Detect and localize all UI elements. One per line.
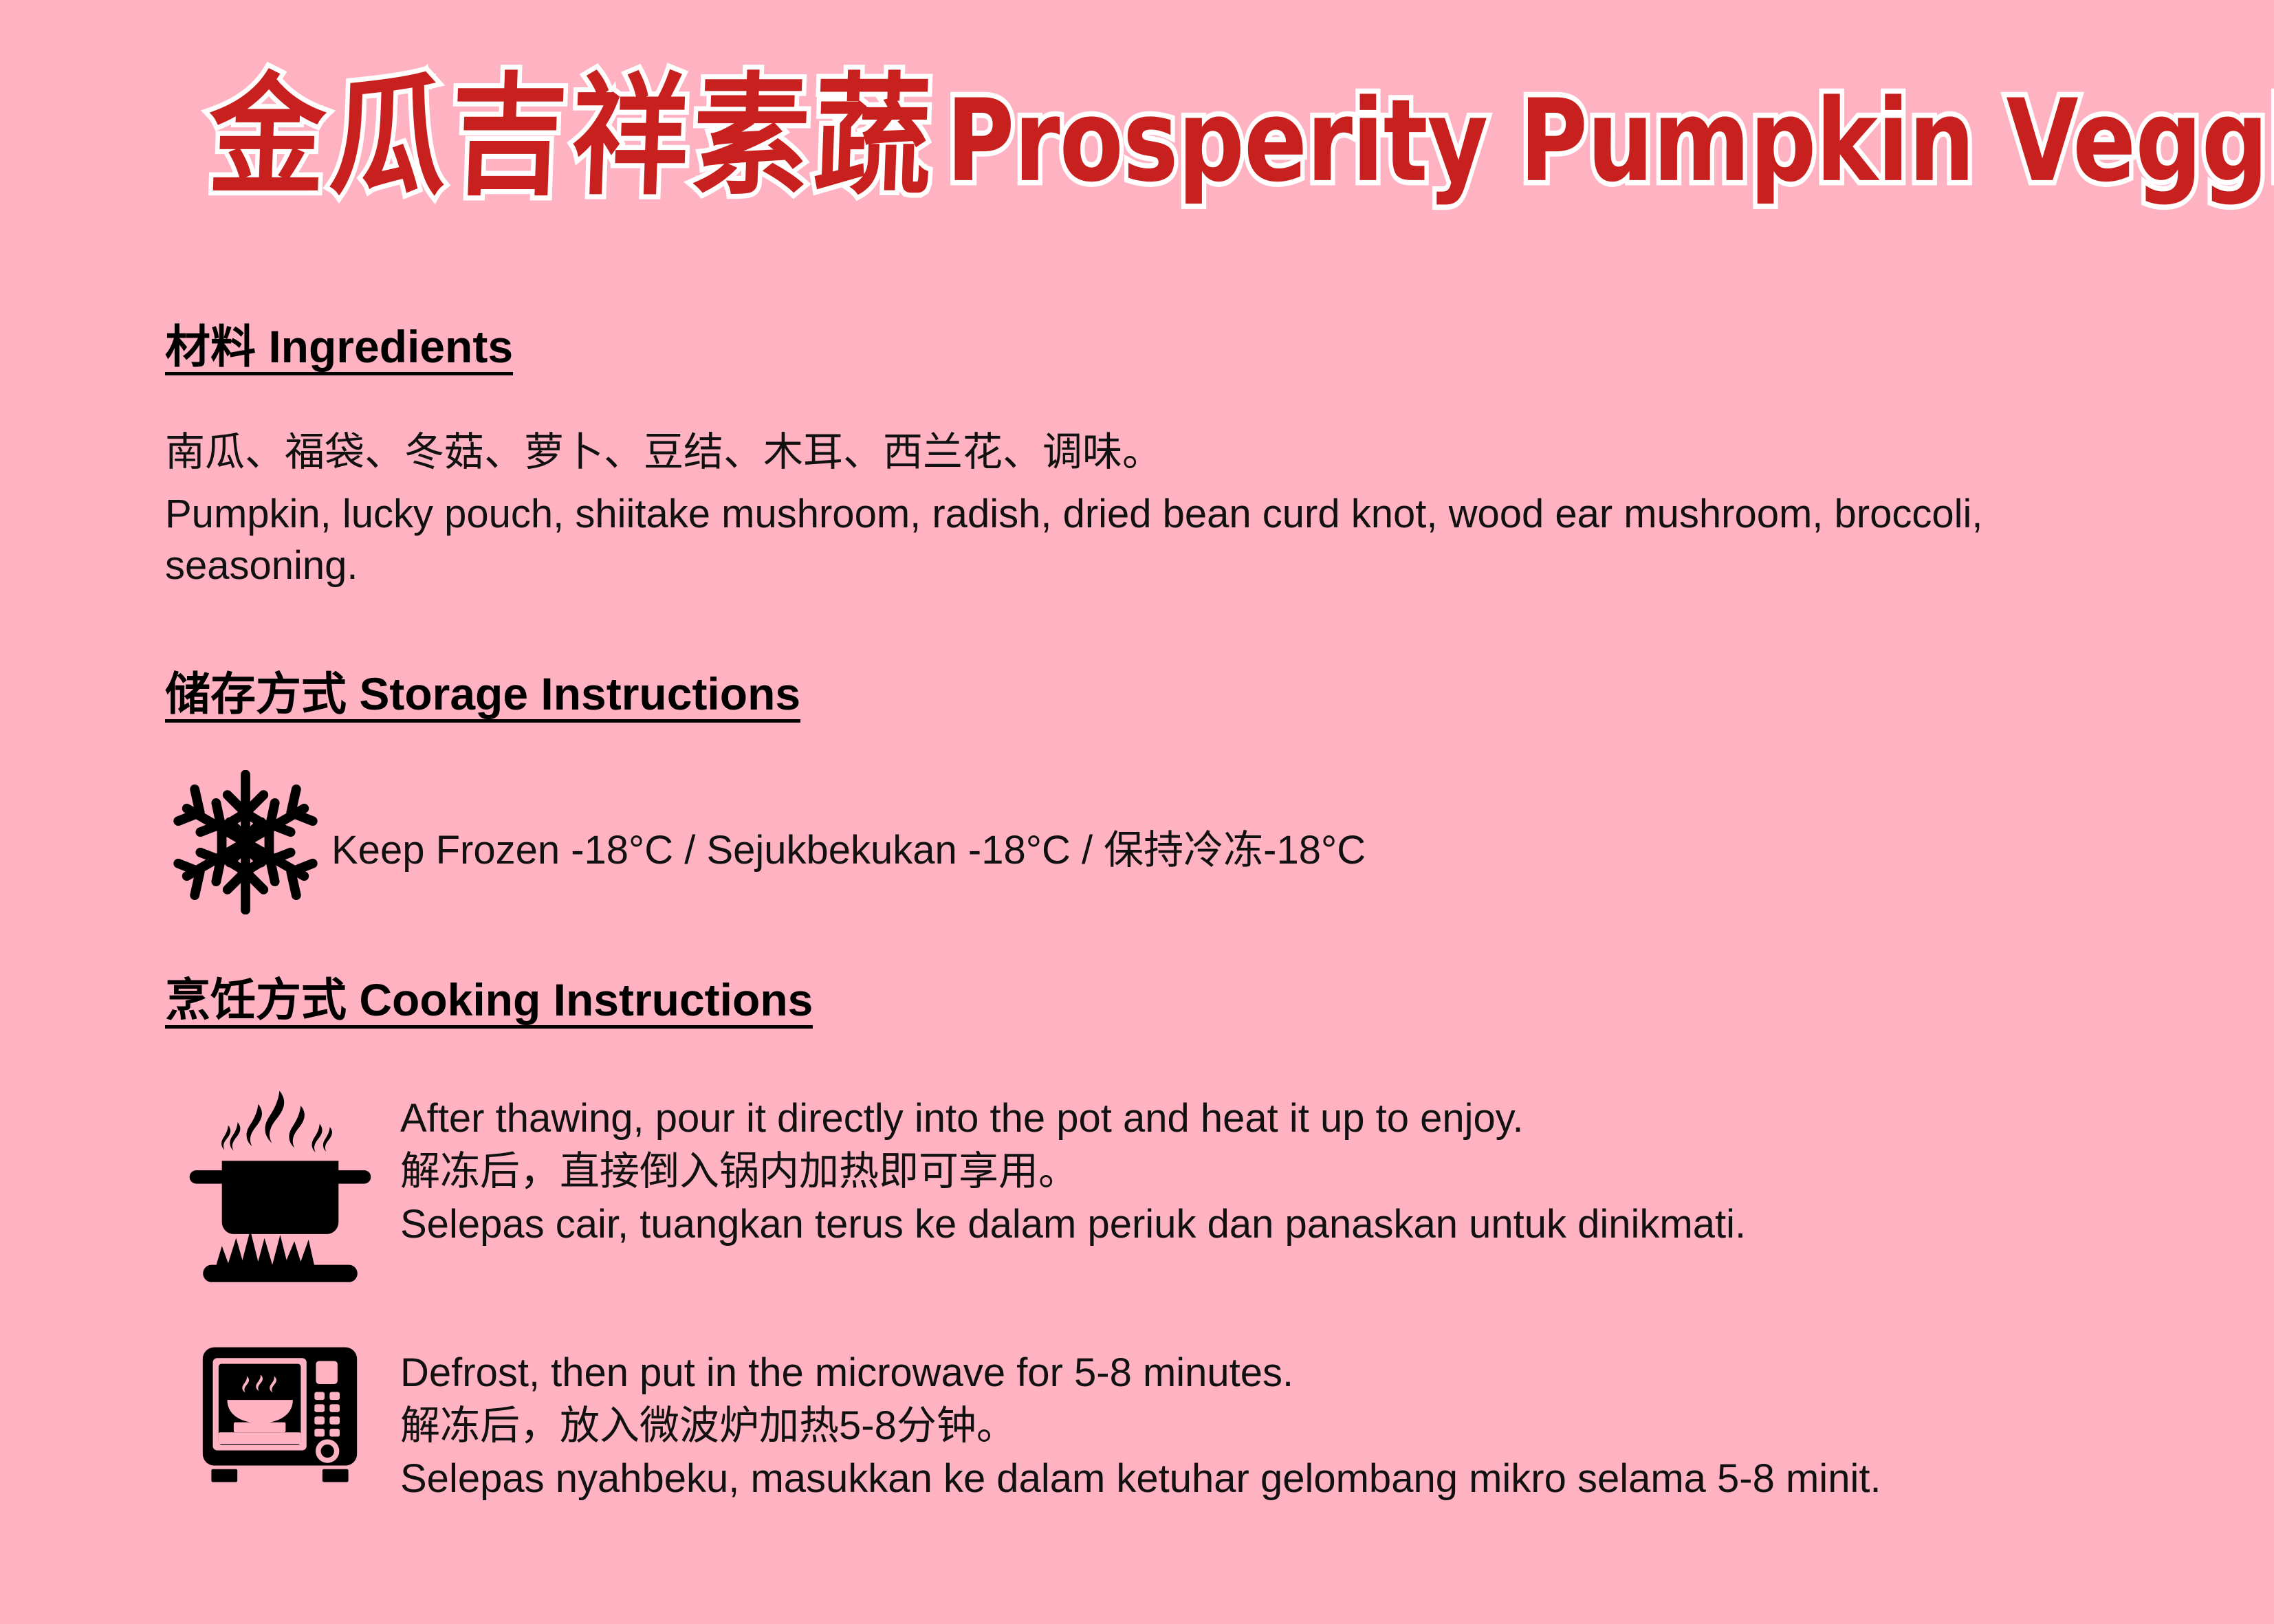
title-english: Prosperity Pumpkin Veggies [946,76,2274,208]
cooking-pot-line-en: After thawing, pour it directly into the… [400,1092,1746,1145]
cooking-pot-line-cn: 解冻后，直接倒入锅内加热即可享用。 [400,1145,1746,1198]
recipe-title: 金瓜吉祥素蔬 Prosperity Pumpkin Veggies [206,83,2274,208]
storage-heading: 储存方式 Storage Instructions [165,670,800,723]
microwave-line-ms: Selepas nyahbeku, masukkan ke dalam ketu… [400,1452,1881,1505]
storage-row: Keep Frozen -18°C / Sejukbekukan -18°C /… [160,770,1366,914]
cooking-heading: 烹饪方式 Cooking Instructions [165,976,813,1029]
cooking-pot-line-ms: Selepas cair, tuangkan terus ke dalam pe… [400,1198,1746,1251]
ingredients-chinese: 南瓜、福袋、冬菇、萝卜、豆结、木耳、西兰花、调味。 [165,426,2090,478]
title-chinese: 金瓜吉祥素蔬 [206,68,937,206]
microwave-icon [160,1341,400,1486]
snowflake-icon [160,770,331,914]
ingredients-heading: 材料 Ingredients [165,323,513,375]
cooking-method-microwave: Defrost, then put in the microwave for 5… [160,1341,2195,1505]
cooking-pot-icon [160,1086,400,1286]
storage-text: Keep Frozen -18°C / Sejukbekukan -18°C /… [331,824,1366,877]
microwave-line-cn: 解冻后，放入微波炉加热5-8分钟。 [400,1399,1881,1452]
cooking-method-pot: After thawing, pour it directly into the… [160,1086,2195,1286]
ingredients-english: Pumpkin, lucky pouch, shiitake mushroom,… [165,488,2090,592]
microwave-line-en: Defrost, then put in the microwave for 5… [400,1346,1881,1399]
